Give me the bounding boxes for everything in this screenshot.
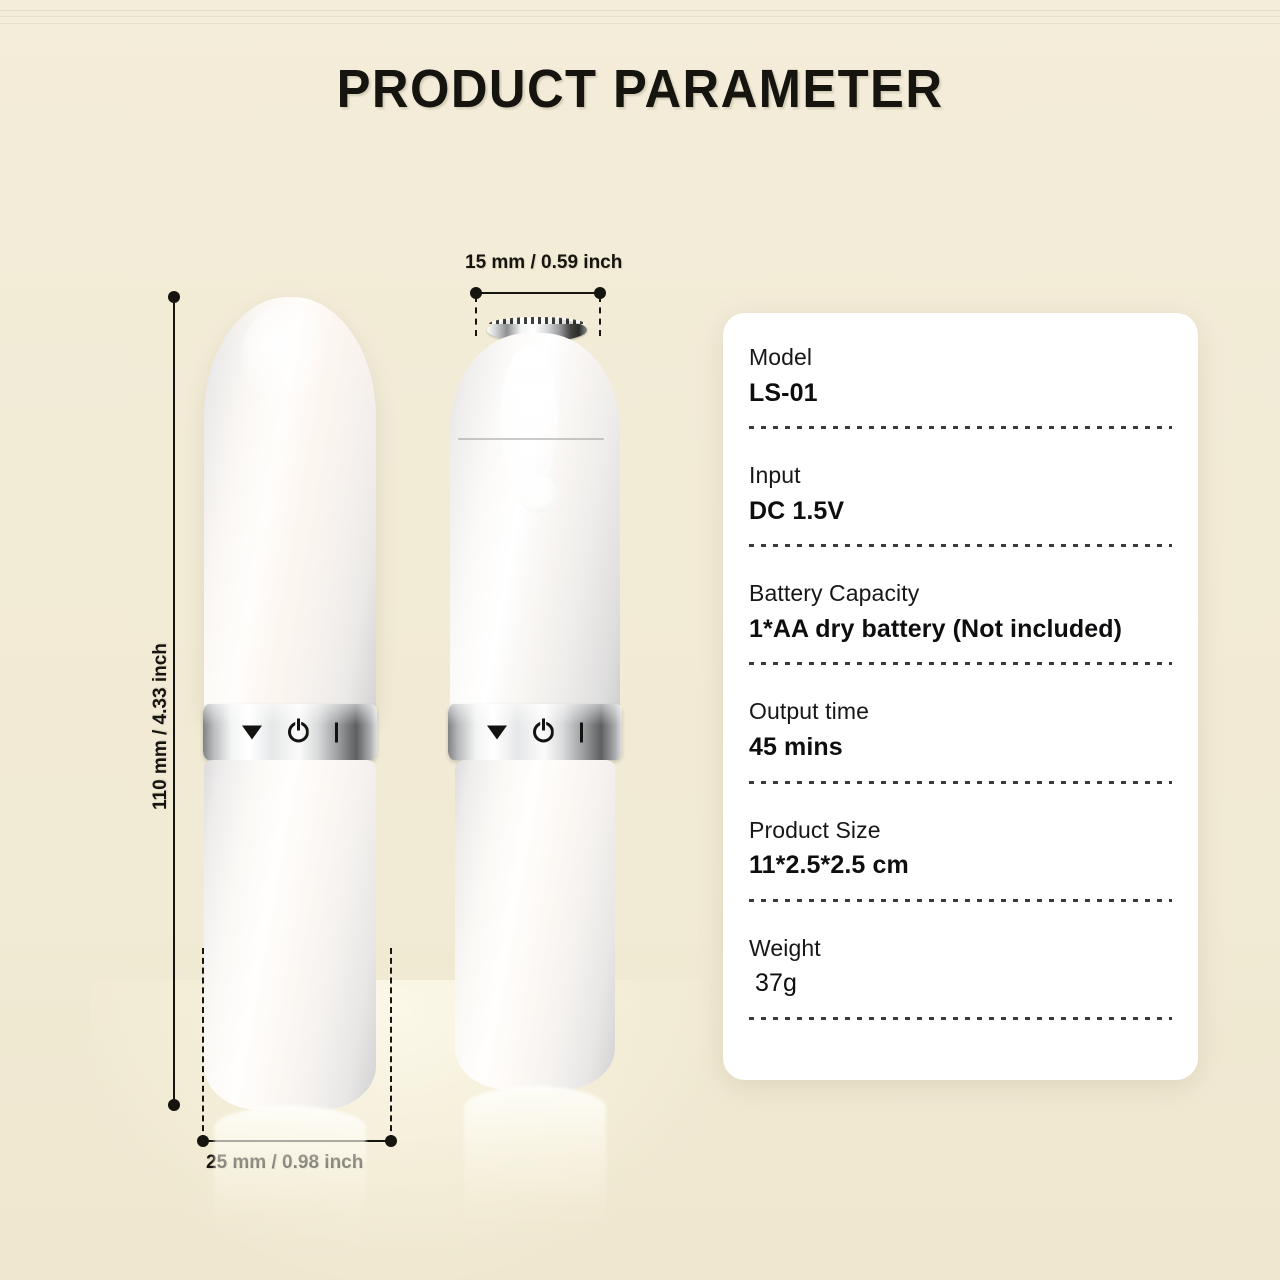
- bar-icon: [580, 722, 584, 742]
- control-band-icons: [203, 722, 377, 743]
- spec-row-output-time: Output time 45 mins: [749, 695, 1172, 813]
- spec-value: DC 1.5V: [749, 494, 1172, 530]
- device-reflection-left: [214, 1106, 366, 1256]
- height-dim-line: [173, 297, 175, 1105]
- shaver-head-teeth: [489, 317, 585, 324]
- height-dim-bottom-dot: [168, 1099, 180, 1111]
- spec-row-battery-capacity: Battery Capacity 1*AA dry battery (Not i…: [749, 577, 1172, 695]
- spec-label: Model: [749, 341, 1172, 374]
- spec-row-input: Input DC 1.5V: [749, 459, 1172, 577]
- spec-row-weight: Weight 37g: [749, 932, 1172, 1020]
- background-seam-line: [0, 23, 1280, 24]
- power-icon: [288, 722, 309, 743]
- spec-label: Product Size: [749, 814, 1172, 847]
- product-parameter-infographic: PRODUCT PARAMETER 110 mm / 4.33 inch 25 …: [0, 0, 1280, 1280]
- page-title: PRODUCT PARAMETER: [38, 58, 1241, 120]
- background-seam-line: [0, 16, 1280, 17]
- head-seam-line: [458, 438, 604, 440]
- control-band-left: [203, 704, 377, 760]
- body-width-guide-right: [390, 948, 392, 1141]
- spec-row-model: Model LS-01: [749, 341, 1172, 459]
- cap-gloss-highlight: [242, 305, 328, 405]
- control-band-icons: [448, 722, 622, 743]
- device-barrel-right: [455, 760, 615, 1090]
- device-barrel-left: [204, 760, 376, 1110]
- device-reflection-right: [464, 1086, 606, 1256]
- head-width-dim-line: [476, 292, 600, 294]
- spec-value: 45 mins: [749, 730, 1172, 766]
- height-dim-label: 110 mm / 4.33 inch: [150, 643, 172, 810]
- power-icon: [533, 722, 554, 743]
- spec-value: LS-01: [749, 376, 1172, 412]
- spec-value: 1*AA dry battery (Not included): [749, 612, 1172, 648]
- head-width-dim-label: 15 mm / 0.59 inch: [465, 252, 622, 274]
- spec-label: Input: [749, 459, 1172, 492]
- spec-label: Weight: [749, 932, 1172, 965]
- spec-row-product-size: Product Size 11*2.5*2.5 cm: [749, 814, 1172, 932]
- spec-divider: [749, 1017, 1172, 1020]
- bar-icon: [335, 722, 339, 742]
- head-width-guide-right: [599, 296, 601, 336]
- power-button[interactable]: [518, 475, 556, 513]
- head-gloss-highlight: [500, 345, 558, 495]
- control-band-right: [448, 704, 622, 760]
- device-cap: [204, 297, 376, 715]
- triangle-down-icon: [487, 725, 507, 739]
- spec-label: Battery Capacity: [749, 577, 1172, 610]
- spec-card: Model LS-01 Input DC 1.5V Battery Capaci…: [723, 313, 1198, 1080]
- spec-label: Output time: [749, 695, 1172, 728]
- triangle-down-icon: [242, 725, 262, 739]
- head-width-guide-left: [475, 296, 477, 336]
- background-seam-line: [0, 10, 1280, 11]
- spec-value: 37g: [749, 966, 1172, 1002]
- spec-value: 11*2.5*2.5 cm: [749, 848, 1172, 884]
- floor-light-glow: [90, 980, 710, 1280]
- body-width-right-dot: [385, 1135, 397, 1147]
